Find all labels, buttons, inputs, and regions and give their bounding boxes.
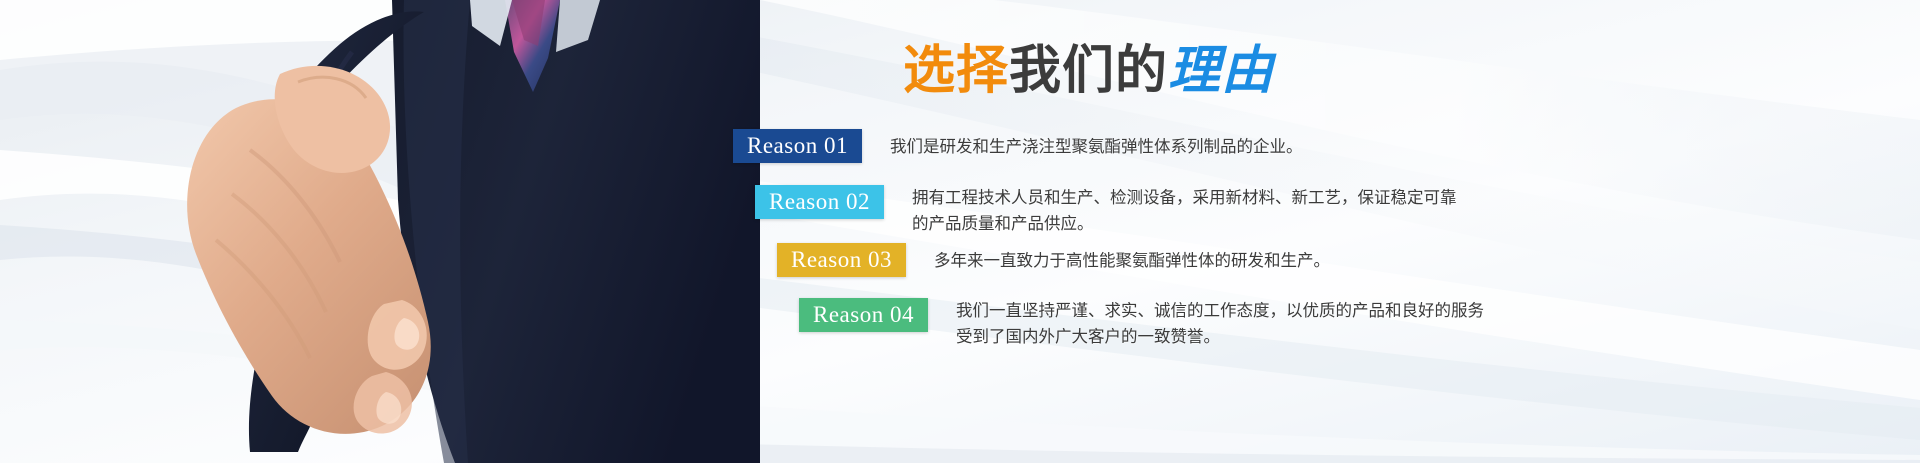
reason-badge-2: Reason 02 xyxy=(755,185,884,219)
reason-badge-1: Reason 01 xyxy=(733,129,862,163)
reason-item-1: Reason 01 我们是研发和生产浇注型聚氨酯弹性体系列制品的企业。 xyxy=(733,129,1302,163)
reason-item-3: Reason 03 多年来一直致力于高性能聚氨酯弹性体的研发和生产。 xyxy=(777,243,1330,277)
reason-item-2: Reason 02 拥有工程技术人员和生产、检测设备，采用新材料、新工艺，保证稳… xyxy=(755,185,1456,237)
reason-text-1: 我们是研发和生产浇注型聚氨酯弹性体系列制品的企业。 xyxy=(890,129,1303,160)
reason-text-4: 我们一直坚持严谨、求实、诚信的工作态度，以优质的产品和良好的服务 受到了国内外广… xyxy=(956,298,1484,350)
reasons-banner: 选择我们的理由 Reason 01 我们是研发和生产浇注型聚氨酯弹性体系列制品的… xyxy=(0,0,1920,463)
reason-text-2: 拥有工程技术人员和生产、检测设备，采用新材料、新工艺，保证稳定可靠 的产品质量和… xyxy=(912,185,1457,237)
reasons-list: Reason 01 我们是研发和生产浇注型聚氨酯弹性体系列制品的企业。 Reas… xyxy=(0,0,1920,463)
reason-badge-4: Reason 04 xyxy=(799,298,928,332)
reason-item-4: Reason 04 我们一直坚持严谨、求实、诚信的工作态度，以优质的产品和良好的… xyxy=(799,298,1484,350)
reason-badge-3: Reason 03 xyxy=(777,243,906,277)
reason-text-3: 多年来一直致力于高性能聚氨酯弹性体的研发和生产。 xyxy=(934,243,1330,274)
